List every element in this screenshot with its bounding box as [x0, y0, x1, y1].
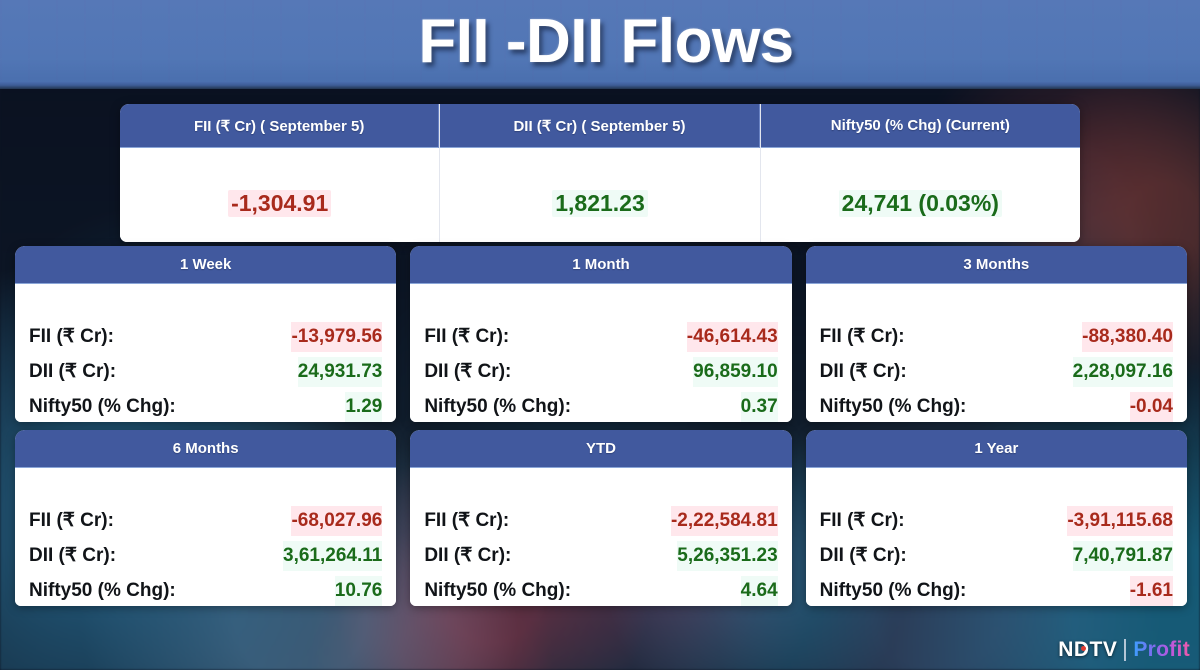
row-value-nifty50: 10.76 — [335, 576, 383, 606]
card-body: FII (₹ Cr): -46,614.43 DII (₹ Cr): 96,85… — [410, 284, 791, 422]
card-row-dii: DII (₹ Cr): 5,26,351.23 — [424, 541, 777, 571]
row-value-dii: 2,28,097.16 — [1073, 357, 1173, 387]
card-row-nifty50: Nifty50 (% Chg): 10.76 — [29, 576, 382, 606]
row-label-nifty50: Nifty50 (% Chg): — [820, 576, 967, 606]
summary-table: FII (₹ Cr) ( September 5) -1,304.91 DII … — [120, 104, 1080, 242]
card-row-dii: DII (₹ Cr): 2,28,097.16 — [820, 357, 1173, 387]
row-label-fii: FII (₹ Cr): — [29, 322, 114, 352]
period-card-1-month: 1 Month FII (₹ Cr): -46,614.43 DII (₹ Cr… — [410, 246, 791, 422]
card-row-dii: DII (₹ Cr): 7,40,791.87 — [820, 541, 1173, 571]
summary-body-fii: -1,304.91 — [120, 148, 439, 242]
card-title: 6 Months — [15, 430, 396, 468]
row-value-nifty50: -1.61 — [1130, 576, 1173, 606]
banner-bottom-strip — [0, 82, 1200, 89]
row-value-fii: -2,22,584.81 — [671, 506, 778, 536]
period-card-grid: 1 Week FII (₹ Cr): -13,979.56 DII (₹ Cr)… — [15, 246, 1187, 606]
card-title: 1 Week — [15, 246, 396, 284]
card-body: FII (₹ Cr): -68,027.96 DII (₹ Cr): 3,61,… — [15, 468, 396, 606]
row-label-fii: FII (₹ Cr): — [424, 506, 509, 536]
card-row-nifty50: Nifty50 (% Chg): 0.37 — [424, 392, 777, 422]
period-card-3-months: 3 Months FII (₹ Cr): -88,380.40 DII (₹ C… — [806, 246, 1187, 422]
logo-ndtv-text: NDTV — [1058, 638, 1117, 662]
row-value-nifty50: -0.04 — [1130, 392, 1173, 422]
card-body: FII (₹ Cr): -3,91,115.68 DII (₹ Cr): 7,4… — [806, 468, 1187, 606]
card-row-fii: FII (₹ Cr): -46,614.43 — [424, 322, 777, 352]
row-value-nifty50: 4.64 — [741, 576, 778, 606]
summary-value-nifty50: 24,741 (0.03%) — [839, 190, 1002, 217]
row-label-nifty50: Nifty50 (% Chg): — [424, 392, 571, 422]
card-body: FII (₹ Cr): -2,22,584.81 DII (₹ Cr): 5,2… — [410, 468, 791, 606]
summary-body-dii: 1,821.23 — [440, 148, 759, 242]
row-value-dii: 5,26,351.23 — [677, 541, 777, 571]
row-value-dii: 7,40,791.87 — [1073, 541, 1173, 571]
row-value-fii: -88,380.40 — [1082, 322, 1173, 352]
logo-brand-label: NDTV — [1058, 638, 1117, 661]
summary-value-dii: 1,821.23 — [552, 190, 648, 217]
row-value-fii: -13,979.56 — [291, 322, 382, 352]
row-label-nifty50: Nifty50 (% Chg): — [424, 576, 571, 606]
card-title: 1 Year — [806, 430, 1187, 468]
page-banner: FII -DII Flows — [0, 0, 1200, 82]
card-title: YTD — [410, 430, 791, 468]
card-title: 1 Month — [410, 246, 791, 284]
card-row-nifty50: Nifty50 (% Chg): 1.29 — [29, 392, 382, 422]
row-value-nifty50: 0.37 — [741, 392, 778, 422]
row-value-fii: -46,614.43 — [687, 322, 778, 352]
summary-body-nifty50: 24,741 (0.03%) — [761, 148, 1080, 242]
card-row-nifty50: Nifty50 (% Chg): -0.04 — [820, 392, 1173, 422]
row-value-fii: -68,027.96 — [291, 506, 382, 536]
card-row-fii: FII (₹ Cr): -2,22,584.81 — [424, 506, 777, 536]
row-value-dii: 24,931.73 — [298, 357, 383, 387]
row-label-fii: FII (₹ Cr): — [820, 506, 905, 536]
card-row-fii: FII (₹ Cr): -3,91,115.68 — [820, 506, 1173, 536]
card-row-nifty50: Nifty50 (% Chg): -1.61 — [820, 576, 1173, 606]
period-card-6-months: 6 Months FII (₹ Cr): -68,027.96 DII (₹ C… — [15, 430, 396, 606]
row-label-dii: DII (₹ Cr): — [820, 541, 907, 571]
card-body: FII (₹ Cr): -13,979.56 DII (₹ Cr): 24,93… — [15, 284, 396, 422]
summary-column-nifty50: Nifty50 (% Chg) (Current) 24,741 (0.03%) — [760, 104, 1080, 242]
card-row-nifty50: Nifty50 (% Chg): 4.64 — [424, 576, 777, 606]
row-label-fii: FII (₹ Cr): — [424, 322, 509, 352]
card-row-fii: FII (₹ Cr): -13,979.56 — [29, 322, 382, 352]
period-card-ytd: YTD FII (₹ Cr): -2,22,584.81 DII (₹ Cr):… — [410, 430, 791, 606]
summary-header-fii: FII (₹ Cr) ( September 5) — [120, 104, 439, 148]
row-label-dii: DII (₹ Cr): — [424, 541, 511, 571]
row-label-nifty50: Nifty50 (% Chg): — [29, 576, 176, 606]
card-row-dii: DII (₹ Cr): 24,931.73 — [29, 357, 382, 387]
period-card-1-year: 1 Year FII (₹ Cr): -3,91,115.68 DII (₹ C… — [806, 430, 1187, 606]
row-label-fii: FII (₹ Cr): — [29, 506, 114, 536]
row-label-fii: FII (₹ Cr): — [820, 322, 905, 352]
card-row-fii: FII (₹ Cr): -68,027.96 — [29, 506, 382, 536]
summary-header-dii: DII (₹ Cr) ( September 5) — [440, 104, 759, 148]
logo-product-label: Profit — [1133, 638, 1190, 662]
ndtv-profit-logo: NDTV Profit — [1058, 636, 1190, 664]
card-title: 3 Months — [806, 246, 1187, 284]
row-value-dii: 96,859.10 — [693, 357, 778, 387]
row-value-nifty50: 1.29 — [345, 392, 382, 422]
card-row-dii: DII (₹ Cr): 3,61,264.11 — [29, 541, 382, 571]
row-label-dii: DII (₹ Cr): — [29, 357, 116, 387]
row-label-dii: DII (₹ Cr): — [29, 541, 116, 571]
row-label-nifty50: Nifty50 (% Chg): — [820, 392, 967, 422]
row-label-nifty50: Nifty50 (% Chg): — [29, 392, 176, 422]
card-body: FII (₹ Cr): -88,380.40 DII (₹ Cr): 2,28,… — [806, 284, 1187, 422]
row-label-dii: DII (₹ Cr): — [820, 357, 907, 387]
summary-column-dii: DII (₹ Cr) ( September 5) 1,821.23 — [439, 104, 759, 242]
summary-header-nifty50: Nifty50 (% Chg) (Current) — [761, 104, 1080, 148]
summary-value-fii: -1,304.91 — [228, 190, 331, 217]
card-row-fii: FII (₹ Cr): -88,380.40 — [820, 322, 1173, 352]
summary-column-fii: FII (₹ Cr) ( September 5) -1,304.91 — [120, 104, 439, 242]
row-value-fii: -3,91,115.68 — [1067, 506, 1173, 536]
row-value-dii: 3,61,264.11 — [283, 541, 382, 571]
page-title: FII -DII Flows — [0, 0, 1200, 82]
period-card-1-week: 1 Week FII (₹ Cr): -13,979.56 DII (₹ Cr)… — [15, 246, 396, 422]
logo-divider — [1124, 639, 1126, 661]
card-row-dii: DII (₹ Cr): 96,859.10 — [424, 357, 777, 387]
row-label-dii: DII (₹ Cr): — [424, 357, 511, 387]
